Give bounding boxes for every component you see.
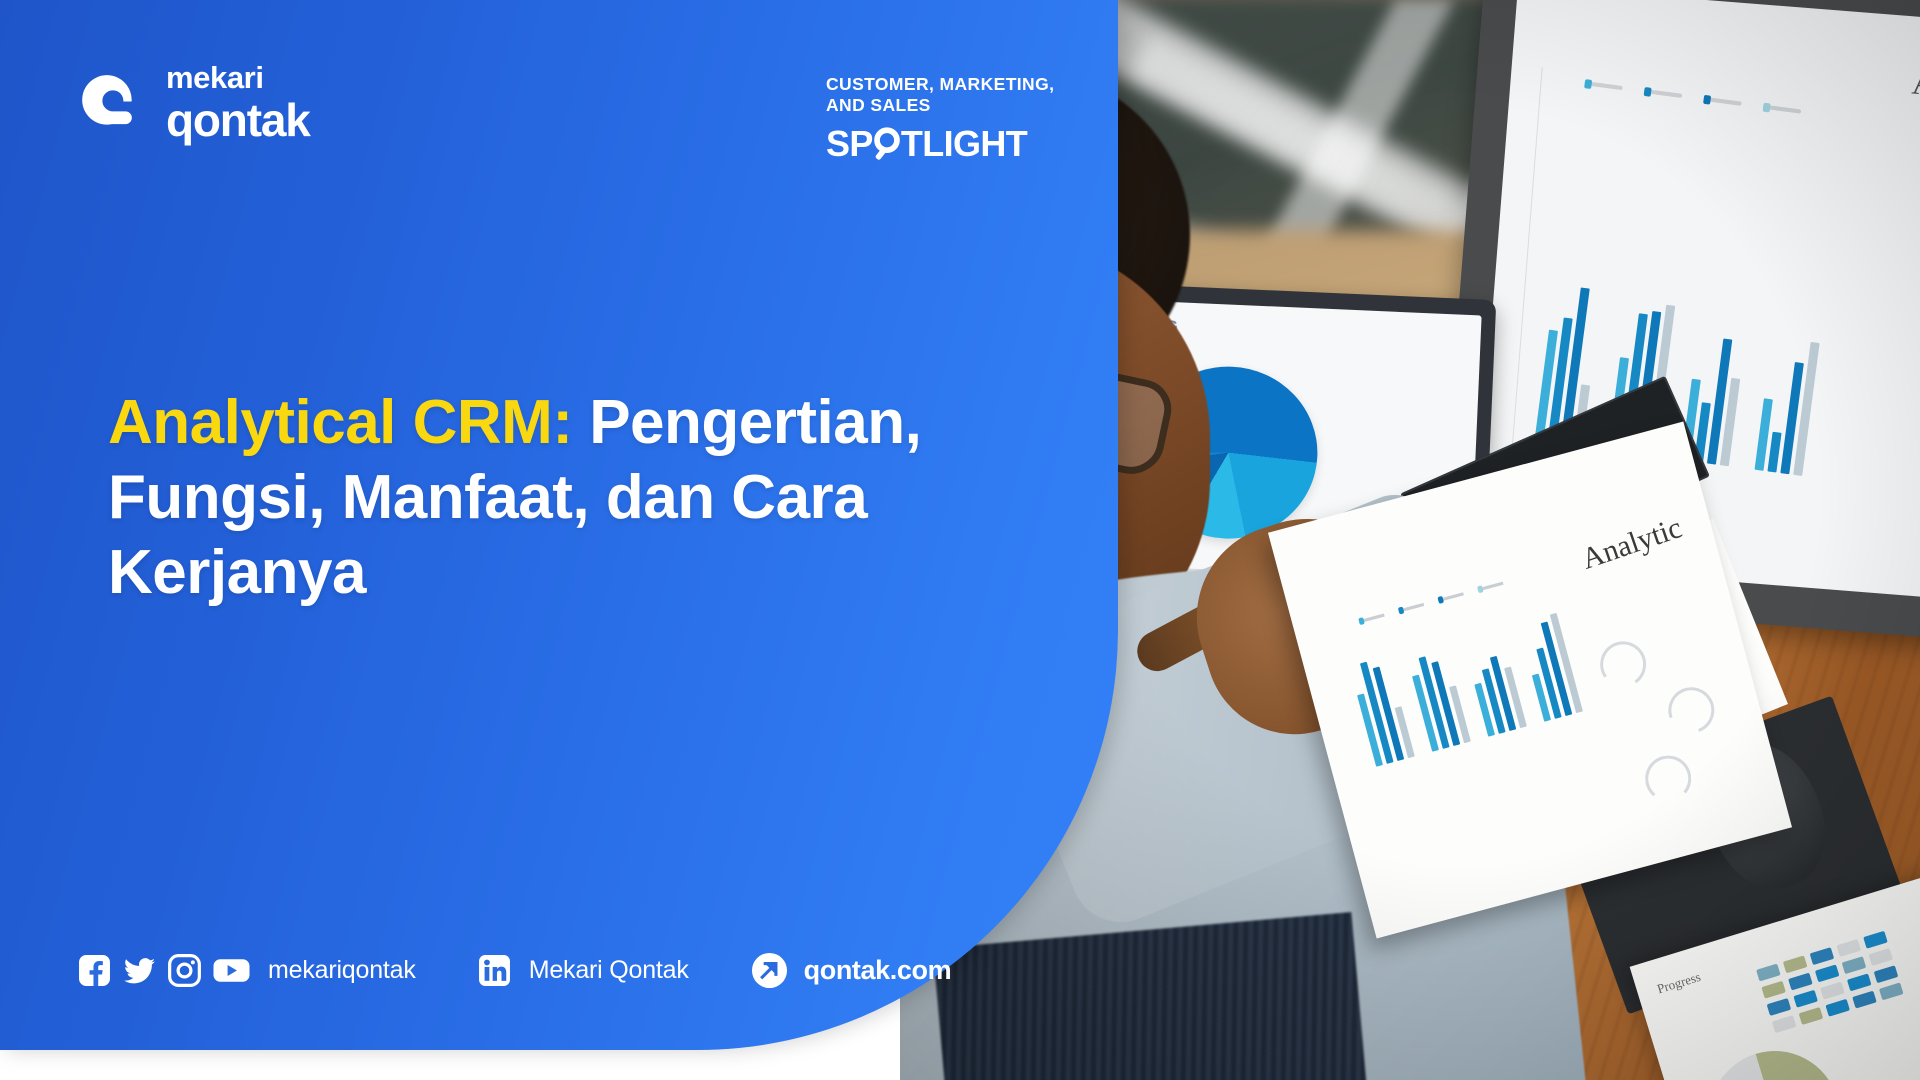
linkedin-label: Mekari Qontak bbox=[529, 956, 689, 985]
magnifying-glass-icon bbox=[872, 126, 902, 162]
linkedin-group[interactable]: Mekari Qontak bbox=[478, 954, 689, 987]
badge-kicker-line2: AND SALES bbox=[826, 95, 1054, 116]
facebook-icon[interactable] bbox=[78, 954, 111, 987]
arrow-up-right-circle-icon[interactable] bbox=[751, 952, 788, 989]
youtube-icon[interactable] bbox=[213, 954, 250, 987]
page-title: Analytical CRM: Pengertian, Fungsi, Manf… bbox=[108, 385, 1008, 610]
page-title-accent: Analytical CRM: bbox=[108, 388, 572, 457]
social-icon-list bbox=[78, 954, 250, 987]
instagram-icon[interactable] bbox=[168, 954, 201, 987]
social-handle-label: mekariqontak bbox=[268, 956, 416, 985]
social-media-banner: Ana MARKETING bbox=[0, 0, 1920, 1080]
brand-name-mekari: mekari bbox=[166, 62, 310, 93]
brand-logo[interactable]: mekari qontak bbox=[78, 62, 310, 143]
mekari-qontak-logo-mark-icon bbox=[78, 70, 144, 136]
blue-content-panel: mekari qontak CUSTOMER, MARKETING, AND S… bbox=[0, 0, 1118, 1050]
social-handle-group: mekariqontak bbox=[78, 954, 416, 987]
website-group[interactable]: qontak.com bbox=[751, 952, 952, 989]
badge-wordmark: SP TLIGHT bbox=[826, 123, 1054, 165]
badge-kicker-line1: CUSTOMER, MARKETING, bbox=[826, 74, 1054, 95]
website-label: qontak.com bbox=[804, 955, 952, 986]
badge-word-before: SP bbox=[826, 123, 873, 165]
linkedin-icon[interactable] bbox=[478, 954, 511, 987]
brand-name-qontak: qontak bbox=[166, 97, 310, 143]
twitter-icon[interactable] bbox=[123, 954, 156, 987]
badge-word-after: TLIGHT bbox=[901, 123, 1027, 165]
spotlight-badge: CUSTOMER, MARKETING, AND SALES SP TLIGHT bbox=[826, 74, 1054, 165]
brand-logo-wordmark: mekari qontak bbox=[166, 62, 310, 143]
footer-bar: mekariqontak Mekari Qontak qontak.com bbox=[78, 952, 951, 989]
